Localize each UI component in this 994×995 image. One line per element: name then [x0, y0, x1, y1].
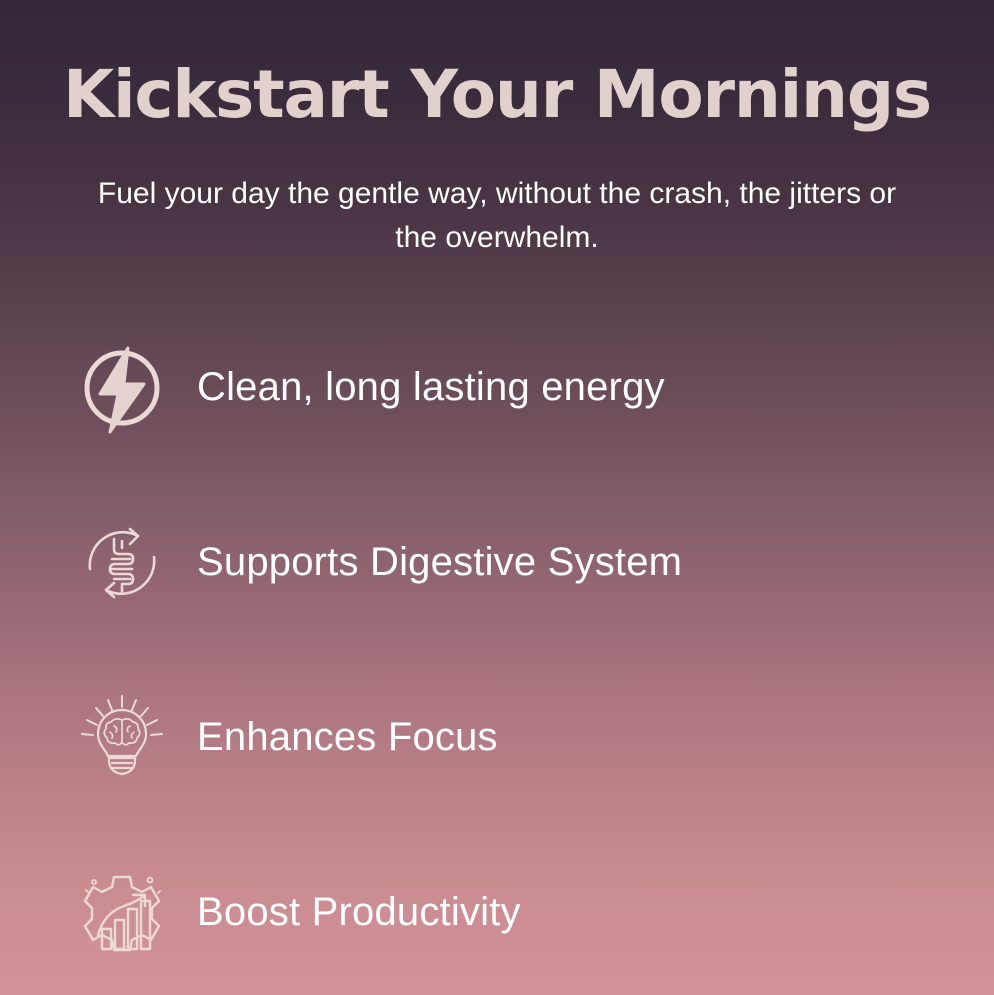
feature-item-focus: Enhances Focus — [72, 650, 902, 825]
feature-label-energy: Clean, long lasting energy — [197, 365, 665, 410]
page-subtitle: Fuel your day the gentle way, without th… — [77, 172, 917, 261]
feature-label-productivity: Boost Productivity — [197, 890, 521, 935]
lightbulb-brain-icon — [72, 688, 172, 788]
digestive-intestine-refresh-icon — [72, 513, 172, 613]
feature-label-focus: Enhances Focus — [197, 715, 498, 760]
page-title: Kickstart Your Mornings — [0, 62, 994, 128]
feature-label-digestion: Supports Digestive System — [197, 540, 682, 585]
promo-poster: Kickstart Your Mornings Fuel your day th… — [0, 0, 994, 995]
feature-list: Clean, long lasting energy — [72, 300, 902, 995]
feature-item-digestion: Supports Digestive System — [72, 475, 902, 650]
feature-item-energy: Clean, long lasting energy — [72, 300, 902, 475]
feature-item-productivity: Boost Productivity — [72, 825, 902, 995]
lightning-bolt-circle-icon — [72, 338, 172, 438]
gear-bar-chart-growth-icon — [72, 863, 172, 963]
